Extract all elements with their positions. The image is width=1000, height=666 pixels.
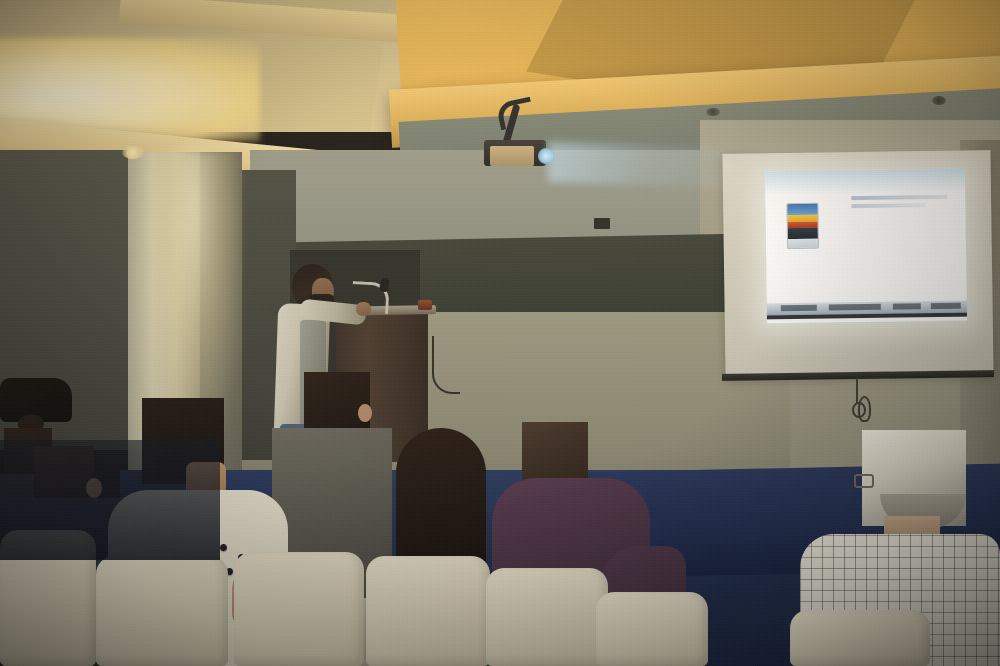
podium-cable [432, 336, 460, 394]
podium-small-object [418, 300, 432, 310]
chair[interactable] [234, 552, 364, 666]
projector-mount-plate [490, 146, 534, 166]
slide-footer-tick [829, 304, 881, 311]
eyeglasses-icon [854, 474, 874, 488]
chair[interactable] [596, 592, 708, 666]
wall-vent [594, 218, 610, 229]
slide-footer-tick [893, 303, 921, 309]
slide-heading-line [851, 203, 925, 208]
slide-header-band [765, 169, 965, 196]
thumbnail-band-dark [788, 228, 818, 239]
tee-button-stud [220, 544, 227, 551]
slide-thumbnail-image [786, 203, 819, 249]
screen-pull-ring[interactable] [852, 402, 866, 418]
chair[interactable] [96, 556, 228, 666]
presentation-room-scene [0, 0, 1000, 666]
chair[interactable] [790, 610, 930, 666]
slide-heading-line [851, 195, 947, 200]
slide-footer-tick [781, 305, 817, 312]
downlight-icon [932, 96, 946, 105]
chair[interactable] [366, 556, 490, 666]
slide-footer-tick [931, 303, 961, 309]
screen-pull-cord[interactable] [856, 378, 858, 404]
thumbnail-band-sky [787, 204, 817, 215]
thumbnail-band-pale [788, 239, 818, 248]
downlight-icon [122, 146, 144, 159]
downlight-icon [706, 108, 720, 116]
speaker-hand [356, 302, 371, 316]
floor-shadow [0, 440, 220, 560]
grey-tee-man-ear [358, 404, 372, 422]
chair[interactable] [486, 568, 608, 666]
projected-slide [765, 169, 967, 324]
